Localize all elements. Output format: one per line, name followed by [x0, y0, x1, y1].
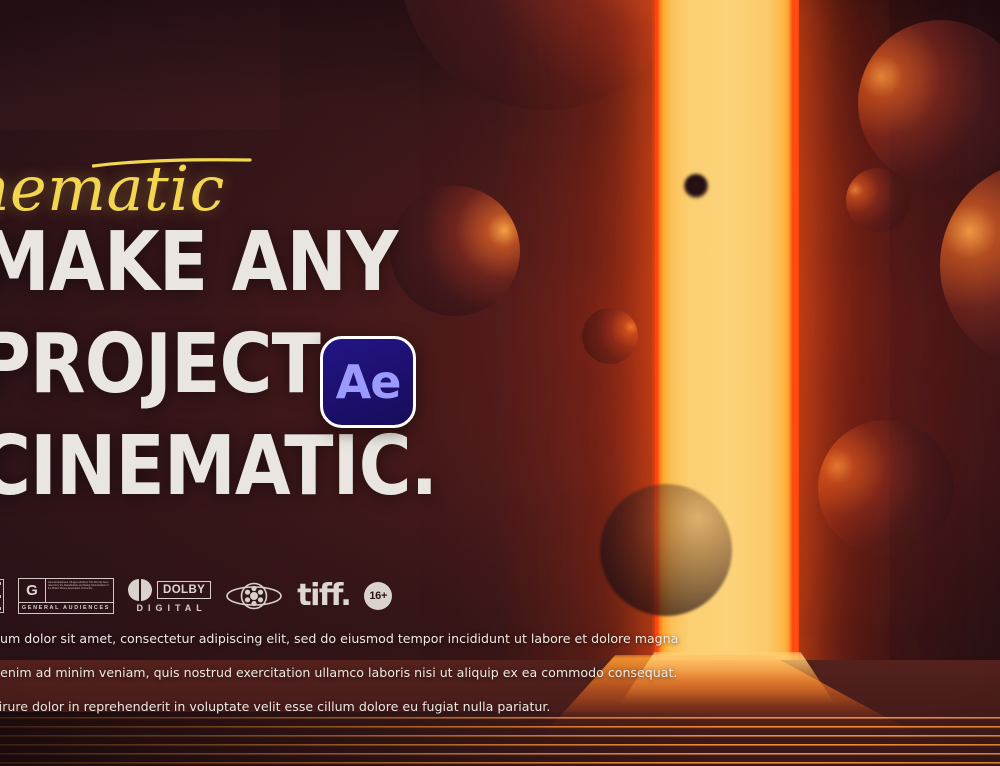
- festival-wordmark: tiff.: [297, 581, 350, 611]
- age-rating-badge: 16+: [364, 582, 392, 610]
- headline-line-3: CINEMATIC.: [0, 416, 471, 518]
- after-effects-app-icon[interactable]: Ae: [320, 336, 416, 428]
- dolby-wordmark: DOLBY: [157, 581, 211, 599]
- script-underline-flourish: [92, 158, 252, 168]
- mpaa-strip-icon: [0, 579, 4, 613]
- body-copy-line-3: te irure dolor in reprehenderit in volup…: [0, 700, 632, 714]
- headline-block: MAKE ANY PROJECT CINEMATIC.: [0, 212, 538, 518]
- poster-content: cinematic MAKE ANY PROJECT CINEMATIC. Ae…: [0, 0, 1000, 766]
- dolby-digital-sublabel: DIGITAL: [132, 603, 206, 613]
- headline-line-1: MAKE ANY: [0, 212, 471, 314]
- certification-badge-strip: G General audiences. All ages admitted. …: [0, 578, 392, 614]
- mpaa-mini-box-icon: [0, 579, 4, 613]
- rating-caption: GENERAL AUDIENCES: [19, 602, 113, 613]
- dolby-double-d-icon: [128, 579, 152, 601]
- body-copy-line-1: ipsum dolor sit amet, consectetur adipis…: [0, 632, 632, 646]
- rating-letter: G: [19, 579, 46, 602]
- after-effects-app-icon-label: Ae: [336, 359, 401, 405]
- cinematic-poster-canvas: cinematic MAKE ANY PROJECT CINEMATIC. Ae…: [0, 0, 1000, 766]
- rating-badge: G General audiences. All ages admitted. …: [18, 578, 114, 614]
- film-reel-globe-emblem: [225, 579, 283, 613]
- rating-fine-print: General audiences. All ages admitted. Th…: [46, 579, 113, 602]
- body-copy-line-2: Ut enim ad minim veniam, quis nostrud ex…: [0, 666, 632, 680]
- body-copy-block: ipsum dolor sit amet, consectetur adipis…: [0, 632, 632, 734]
- dolby-digital-badge: DOLBY DIGITAL: [128, 579, 211, 613]
